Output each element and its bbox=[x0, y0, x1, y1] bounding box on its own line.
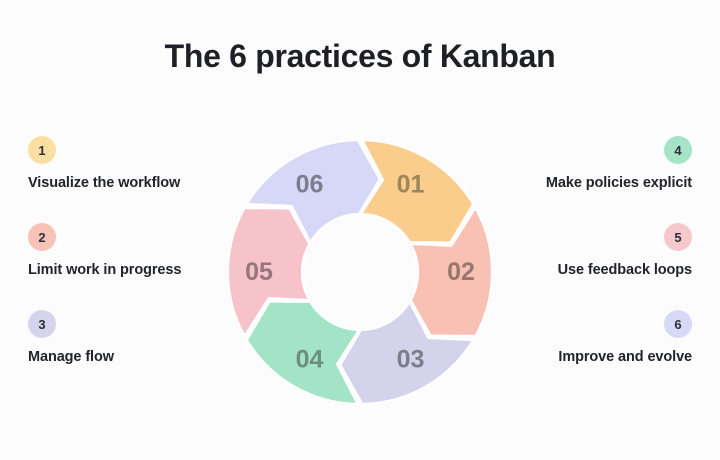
donut-svg: 010203040506 bbox=[220, 132, 500, 412]
donut-number-06: 06 bbox=[296, 171, 324, 199]
practice-item-4[interactable]: 4 Make policies explicit bbox=[477, 136, 692, 191]
practice-item-1[interactable]: 1 Visualize the workflow bbox=[28, 136, 243, 191]
practice-label-3: Manage flow bbox=[28, 349, 243, 365]
kanban-cycle-donut: 010203040506 bbox=[220, 132, 500, 412]
donut-number-02: 02 bbox=[447, 258, 475, 286]
donut-number-04: 04 bbox=[296, 346, 324, 374]
practice-badge-2: 2 bbox=[28, 223, 56, 251]
donut-number-03: 03 bbox=[397, 346, 425, 374]
practice-item-2[interactable]: 2 Limit work in progress bbox=[28, 223, 243, 278]
practice-badge-5: 5 bbox=[664, 223, 692, 251]
practice-badge-4: 4 bbox=[664, 136, 692, 164]
practice-label-6: Improve and evolve bbox=[477, 349, 692, 365]
practice-badge-1: 1 bbox=[28, 136, 56, 164]
practice-label-2: Limit work in progress bbox=[28, 262, 243, 278]
practice-list-right: 4 Make policies explicit 5 Use feedback … bbox=[477, 136, 692, 365]
practice-label-5: Use feedback loops bbox=[477, 262, 692, 278]
practice-label-1: Visualize the workflow bbox=[28, 175, 243, 191]
page-title: The 6 practices of Kanban bbox=[0, 38, 720, 75]
practice-label-4: Make policies explicit bbox=[477, 175, 692, 191]
practice-badge-3: 3 bbox=[28, 310, 56, 338]
practice-list-left: 1 Visualize the workflow 2 Limit work in… bbox=[28, 136, 243, 365]
practice-item-3[interactable]: 3 Manage flow bbox=[28, 310, 243, 365]
donut-number-01: 01 bbox=[397, 171, 425, 199]
practice-item-5[interactable]: 5 Use feedback loops bbox=[477, 223, 692, 278]
practice-badge-6: 6 bbox=[664, 310, 692, 338]
infographic-canvas: The 6 practices of Kanban 1 Visualize th… bbox=[0, 0, 720, 460]
donut-number-05: 05 bbox=[245, 258, 273, 286]
practice-item-6[interactable]: 6 Improve and evolve bbox=[477, 310, 692, 365]
